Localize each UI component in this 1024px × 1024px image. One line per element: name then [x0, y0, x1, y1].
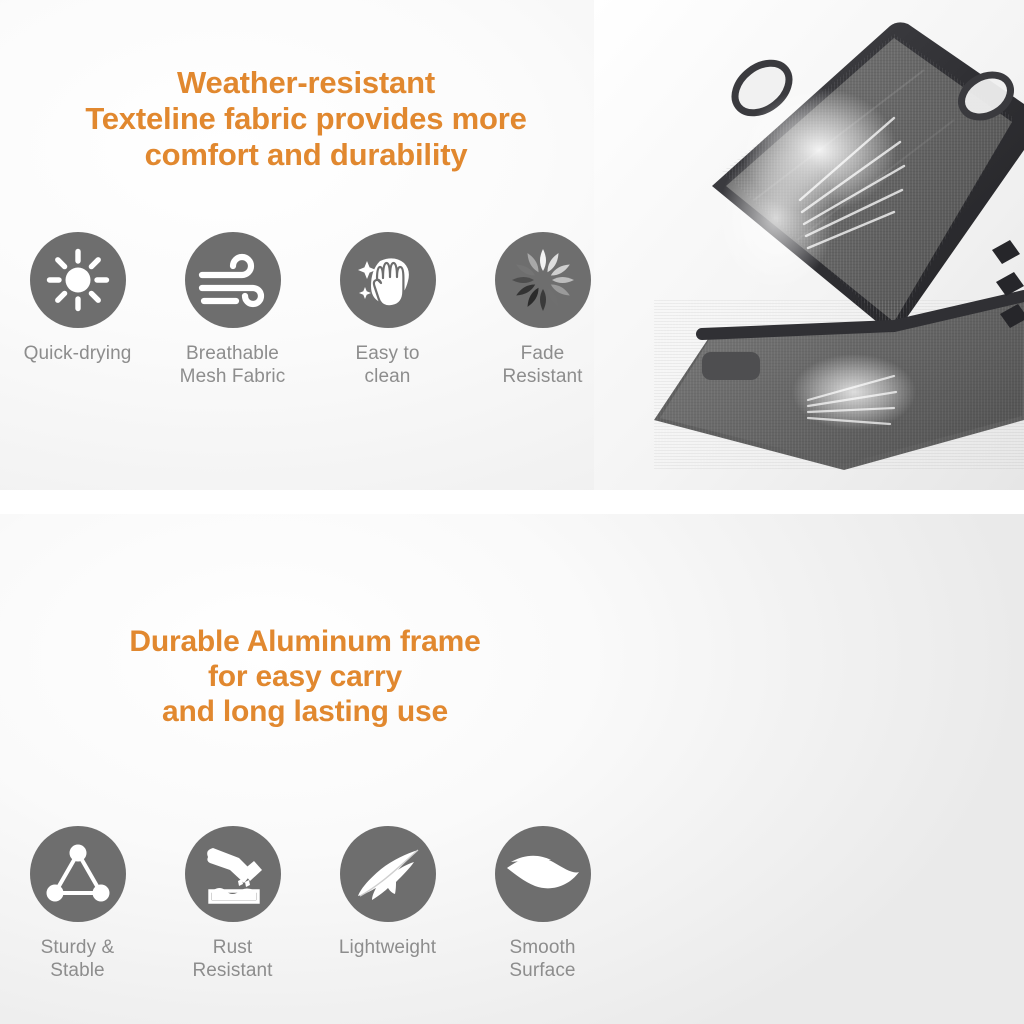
lounger-backrest-mesh-photo [594, 0, 1024, 490]
feature-label-lightweight: Lightweight [339, 936, 436, 959]
headline-frame-line-3: and long lasting use [0, 694, 610, 729]
panel-frame: Durable Aluminum frame for easy carry an… [0, 514, 1024, 1024]
headline-fabric-line-1: Weather-resistant [0, 65, 612, 101]
feature-sturdy-stable: Sturdy & Stable [0, 826, 155, 982]
feature-fade-resistant: Fade Resistant [465, 232, 620, 388]
headline-fabric-line-2: Texteline fabric provides more [0, 101, 612, 137]
headline-frame-line-1: Durable Aluminum frame [0, 624, 610, 659]
feature-quick-drying: Quick-drying [0, 232, 155, 365]
feature-label-quick-drying: Quick-drying [24, 342, 132, 365]
feature-breathable-mesh: Breathable Mesh Fabric [155, 232, 310, 388]
headline-fabric-line-3: comfort and durability [0, 137, 612, 173]
feature-lightweight: Lightweight [310, 826, 465, 959]
headline-fabric: Weather-resistant Texteline fabric provi… [0, 65, 612, 174]
hand-wipe-icon [340, 232, 436, 328]
feature-smooth-surface: Smooth Surface [465, 826, 620, 982]
headline-frame-line-2: for easy carry [0, 659, 610, 694]
triangle-nodes-icon [30, 826, 126, 922]
feature-label-easy-to-clean: Easy to clean [355, 342, 419, 388]
feature-label-rust-resistant: Rust Resistant [192, 936, 272, 982]
feature-label-sturdy-stable: Sturdy & Stable [41, 936, 115, 982]
feature-label-breathable-mesh: Breathable Mesh Fabric [180, 342, 286, 388]
panel-divider [0, 490, 1024, 514]
panel-fabric: Weather-resistant Texteline fabric provi… [0, 0, 1024, 490]
feature-easy-to-clean: Easy to clean [310, 232, 465, 388]
feature-row-fabric: Quick-drying Breathable Mesh Fabric [0, 232, 620, 388]
hammer-anvil-icon [185, 826, 281, 922]
wind-icon [185, 232, 281, 328]
sun-icon [30, 232, 126, 328]
feature-row-frame: Sturdy & Stable [0, 826, 620, 982]
feather-icon [340, 826, 436, 922]
headline-frame: Durable Aluminum frame for easy carry an… [0, 624, 610, 729]
feature-label-fade-resistant: Fade Resistant [502, 342, 582, 388]
infographic-page: Weather-resistant Texteline fabric provi… [0, 0, 1024, 1024]
feature-label-smooth-surface: Smooth Surface [509, 936, 575, 982]
color-wheel-icon [495, 232, 591, 328]
smooth-wave-icon [495, 826, 591, 922]
feature-rust-resistant: Rust Resistant [155, 826, 310, 982]
